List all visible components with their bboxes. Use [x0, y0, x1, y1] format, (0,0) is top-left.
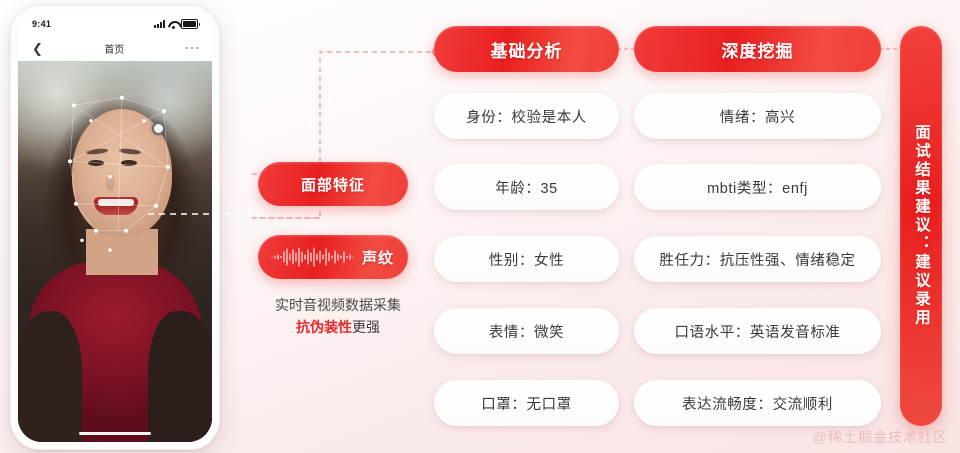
- infographic-canvas: 9:41 ❮ 首页: [0, 0, 960, 453]
- caption-line-2: 抗伪装性更强: [248, 316, 428, 338]
- subject-hair-left: [18, 311, 82, 442]
- subject-teeth: [98, 199, 134, 206]
- header-deep-mining-label: 深度挖掘: [722, 37, 794, 62]
- subject-nose: [106, 171, 115, 191]
- deep-card-3-label: 胜任力：抗压性强、情绪稳定: [659, 249, 855, 270]
- caption-line-1: 实时音视频数据采集: [248, 295, 428, 316]
- deep-card-4[interactable]: 口语水平：英语发音标准: [634, 308, 881, 354]
- tag-facial-features-label: 面部特征: [301, 174, 365, 195]
- phone-screen: 9:41 ❮ 首页: [18, 13, 212, 442]
- subject-eye-left: [88, 160, 104, 166]
- basic-card-1-label: 身份：校验是本人: [466, 106, 587, 127]
- wifi-icon: [168, 20, 178, 28]
- basic-card-5[interactable]: 口罩：无口罩: [434, 380, 619, 426]
- basic-card-3[interactable]: 性别：女性: [434, 236, 619, 282]
- caption-highlight: 抗伪装性: [296, 319, 352, 335]
- subject-hair-right: [148, 311, 212, 442]
- status-icon-group: [154, 19, 198, 29]
- basic-card-4-label: 表情：微笑: [489, 321, 565, 342]
- tag-facial-features[interactable]: 面部特征: [258, 162, 408, 206]
- deep-card-5[interactable]: 表达流畅度：交流顺利: [634, 380, 881, 426]
- chevron-left-icon[interactable]: ❮: [32, 42, 43, 55]
- header-deep-mining[interactable]: 深度挖掘: [634, 26, 881, 72]
- watermark: @稀土掘金技术社区: [813, 427, 948, 447]
- caption-line-2-rest: 更强: [352, 319, 380, 335]
- deep-card-2[interactable]: mbti类型：enfj: [634, 164, 881, 210]
- deep-card-4-label: 口语水平：英语发音标准: [674, 321, 840, 342]
- phone-mockup: 9:41 ❮ 首页: [10, 5, 220, 450]
- deep-card-2-label: mbti类型：enfj: [707, 177, 808, 198]
- capture-caption: 实时音视频数据采集 抗伪装性更强: [248, 295, 428, 338]
- tag-voiceprint-label: 声纹: [362, 247, 394, 268]
- deep-card-1-label: 情绪：高兴: [720, 106, 796, 127]
- signal-bars-icon: [154, 20, 165, 28]
- waveform-icon: [270, 246, 356, 268]
- live-video-feed: [18, 61, 212, 442]
- header-basic-analysis-label: 基础分析: [491, 37, 563, 62]
- basic-card-2[interactable]: 年龄：35: [434, 164, 619, 210]
- battery-icon: [181, 19, 198, 29]
- basic-card-3-label: 性别：女性: [489, 249, 565, 270]
- basic-card-4[interactable]: 表情：微笑: [434, 308, 619, 354]
- conclusion-bar[interactable]: 面试结果建议：建议录用: [900, 26, 942, 426]
- basic-card-5-label: 口罩：无口罩: [481, 393, 572, 414]
- face-anchor-node: [152, 122, 165, 135]
- conclusion-label: 面试结果建议：建议录用: [910, 124, 932, 328]
- phone-status-bar: 9:41: [18, 13, 212, 35]
- deep-card-3[interactable]: 胜任力：抗压性强、情绪稳定: [634, 236, 881, 282]
- basic-card-1[interactable]: 身份：校验是本人: [434, 93, 619, 139]
- header-basic-analysis[interactable]: 基础分析: [434, 26, 619, 72]
- home-indicator: [79, 432, 151, 435]
- deep-card-1[interactable]: 情绪：高兴: [634, 93, 881, 139]
- subject-eye-right: [121, 160, 137, 166]
- basic-card-2-label: 年龄：35: [495, 177, 558, 198]
- deep-card-5-label: 表达流畅度：交流顺利: [682, 393, 833, 414]
- status-time: 9:41: [32, 19, 51, 29]
- phone-nav-bar: ❮ 首页: [18, 35, 212, 61]
- more-dots-icon[interactable]: [186, 47, 199, 50]
- tag-voiceprint[interactable]: 声纹: [258, 235, 408, 279]
- phone-page-title: 首页: [104, 41, 124, 56]
